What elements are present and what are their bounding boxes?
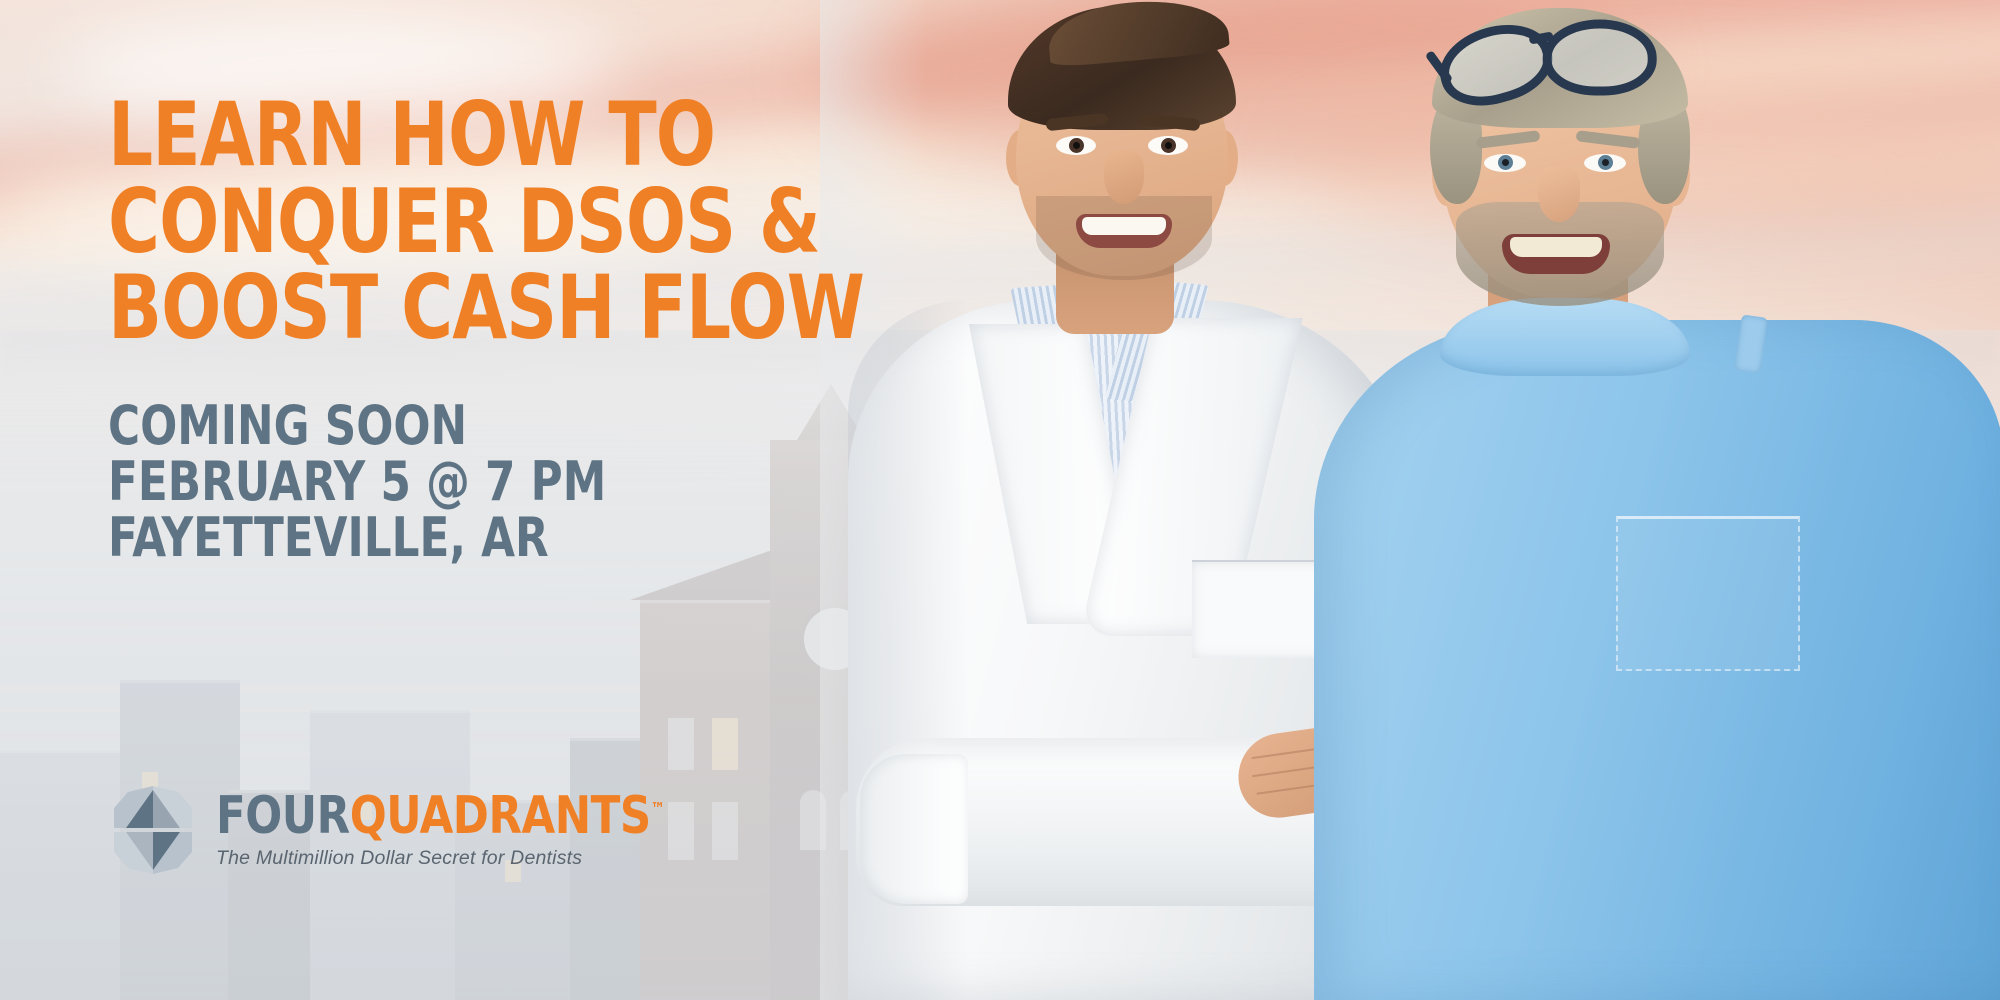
headline-line-1: LEARN HOW TO — [108, 92, 788, 179]
logo-word-quadrants: QUADRANTS — [350, 786, 651, 846]
eye-right — [1148, 136, 1188, 155]
smiling-mouth — [1076, 214, 1172, 248]
promo-banner: LEARN HOW TO CONQUER DSOS & BOOST CASH F… — [0, 0, 2000, 1000]
person-dentist-scrubs — [1290, 0, 2000, 1000]
scrubs-collar — [1440, 298, 1690, 376]
event-location: FAYETTEVILLE, AR — [108, 510, 792, 566]
banner-text-block: LEARN HOW TO CONQUER DSOS & BOOST CASH F… — [108, 92, 868, 566]
four-quadrants-logo[interactable]: FOURQUADRANTS™ The Multimillion Dollar S… — [110, 782, 699, 878]
smiling-mouth — [1502, 234, 1610, 274]
eye-right — [1584, 154, 1626, 172]
headline-line-3: BOOST CASH FLOW — [108, 265, 788, 352]
logo-text-lockup: FOURQUADRANTS™ The Multimillion Dollar S… — [216, 790, 699, 870]
four-quadrants-diamond-mark-icon — [110, 782, 196, 878]
headline-line-2: CONQUER DSOS & — [108, 179, 788, 266]
trademark-icon: ™ — [651, 800, 665, 820]
lab-coat-cuff — [860, 754, 968, 904]
logo-wordmark: FOURQUADRANTS™ — [216, 790, 665, 842]
glasses-lens-right — [1543, 19, 1657, 95]
logo-word-four: FOUR — [216, 786, 350, 846]
event-details: COMING SOON FEBRUARY 5 @ 7 PM FAYETTEVIL… — [108, 398, 792, 566]
page-title: LEARN HOW TO CONQUER DSOS & BOOST CASH F… — [108, 92, 788, 352]
nose — [1538, 166, 1580, 222]
scrubs-chest-pocket — [1616, 516, 1800, 671]
eye-left — [1484, 154, 1526, 172]
event-status: COMING SOON — [108, 398, 792, 454]
dentists-photo-group — [820, 0, 2000, 1000]
nose — [1104, 150, 1144, 204]
event-datetime: FEBRUARY 5 @ 7 PM — [108, 454, 792, 510]
eye-left — [1056, 136, 1096, 155]
logo-tagline: The Multimillion Dollar Secret for Denti… — [216, 847, 699, 870]
